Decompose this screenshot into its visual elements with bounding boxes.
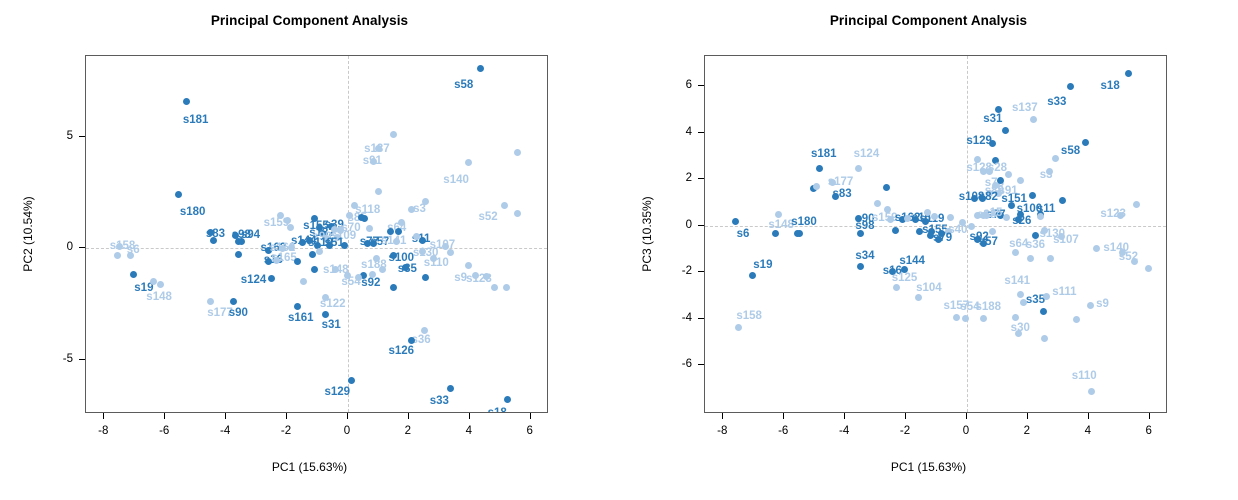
- x-axis-tick: [783, 413, 784, 419]
- x-axis-tick: [225, 413, 226, 419]
- point-label: s3: [1040, 169, 1053, 181]
- point-label: s148: [323, 264, 349, 276]
- panel-title: Principal Component Analysis: [0, 13, 619, 28]
- point-label: s58: [1061, 145, 1080, 157]
- point-label: s181: [183, 114, 209, 126]
- scatter-point: [1002, 127, 1009, 134]
- scatter-point: [1020, 299, 1027, 306]
- scatter-point: [1047, 255, 1054, 262]
- y-axis-tick-label: 0: [51, 241, 73, 253]
- y-axis-tick-label: 5: [51, 130, 73, 142]
- point-label: s148: [146, 291, 172, 303]
- point-label: s158: [736, 310, 762, 322]
- y-axis-tick: [698, 85, 704, 86]
- point-label: s18: [1101, 80, 1120, 92]
- point-label: s6: [127, 244, 140, 256]
- y-axis-title: PC2 (10.54%): [21, 196, 35, 271]
- scatter-point: [1067, 83, 1074, 90]
- point-label: s137: [1012, 102, 1038, 114]
- x-axis-tick: [1027, 413, 1028, 419]
- scatter-point: [287, 224, 294, 231]
- scatter-point: [207, 298, 214, 305]
- point-label: s19: [753, 259, 772, 271]
- point-label: s124: [241, 274, 267, 286]
- scatter-point: [1030, 116, 1037, 123]
- x-axis-tick: [1149, 413, 1150, 419]
- x-axis-tick: [347, 413, 348, 419]
- plot-points-left: s58s181s137s91s140s180s118s3s85s52s159s6…: [86, 56, 547, 412]
- point-label: s90: [229, 307, 248, 319]
- scatter-point: [1052, 155, 1059, 162]
- scatter-point: [1125, 70, 1132, 77]
- point-label: s91: [363, 155, 382, 167]
- x-axis-tick-label: 6: [527, 425, 533, 437]
- scatter-point: [989, 228, 996, 235]
- scatter-point: [1133, 201, 1140, 208]
- scatter-point: [997, 177, 1004, 184]
- x-axis-tick-label: -2: [900, 425, 910, 437]
- point-label: s9: [1096, 298, 1109, 310]
- y-axis-tick: [79, 136, 85, 137]
- panel-title: Principal Component Analysis: [619, 13, 1238, 28]
- scatter-point: [855, 165, 862, 172]
- scatter-point: [230, 298, 237, 305]
- scatter-point: [953, 314, 960, 321]
- y-axis-tick: [698, 271, 704, 272]
- y-axis-tick-label: 2: [670, 172, 692, 184]
- scatter-point: [232, 232, 239, 239]
- plot-points-right: s18s33s31s137s129s58s128s28s3s181s177s12…: [705, 56, 1166, 412]
- x-axis-tick: [722, 413, 723, 419]
- scatter-point: [447, 385, 454, 392]
- point-label: s107: [1053, 234, 1079, 246]
- scatter-point: [1043, 293, 1050, 300]
- scatter-point: [337, 226, 344, 233]
- y-axis-tick-label: 4: [670, 126, 692, 138]
- scatter-point: [874, 200, 881, 207]
- scatter-point: [390, 284, 397, 291]
- point-label: s148: [768, 219, 794, 231]
- scatter-point: [1041, 335, 1048, 342]
- point-label: s181: [811, 148, 837, 160]
- x-axis-tick-label: 0: [344, 425, 350, 437]
- y-axis-title: PC3 (10.35%): [640, 196, 654, 271]
- x-axis-tick-label: 2: [405, 425, 411, 437]
- point-label: s165: [271, 252, 297, 264]
- scatter-point: [1029, 192, 1036, 199]
- scatter-point: [893, 284, 900, 291]
- scatter-point: [501, 202, 508, 209]
- point-label: s159: [872, 212, 898, 224]
- pca-panel-pc1-pc2: Principal Component Analysis s58s181s137…: [0, 0, 619, 500]
- scatter-point: [974, 212, 981, 219]
- point-label: s159: [264, 217, 290, 229]
- scatter-point: [1005, 171, 1012, 178]
- scatter-point: [447, 249, 454, 256]
- scatter-point: [504, 396, 511, 403]
- scatter-point: [514, 210, 521, 217]
- x-axis-tick-label: -4: [839, 425, 849, 437]
- point-label: s94: [241, 229, 260, 241]
- scatter-point: [183, 98, 190, 105]
- y-axis-tick-label: -2: [670, 265, 692, 277]
- scatter-point: [796, 230, 803, 237]
- point-label: s124: [854, 148, 880, 160]
- x-axis-tick: [905, 413, 906, 419]
- x-axis-tick-label: -6: [778, 425, 788, 437]
- point-label: s9: [454, 272, 467, 284]
- scatter-point: [175, 191, 182, 198]
- scatter-point: [775, 211, 782, 218]
- scatter-point: [322, 311, 329, 318]
- scatter-point: [514, 149, 521, 156]
- scatter-point: [1017, 291, 1024, 298]
- point-label: s26: [1012, 215, 1031, 227]
- x-axis-tick: [844, 413, 845, 419]
- point-label: s144: [899, 255, 925, 267]
- scatter-point: [735, 324, 742, 331]
- scatter-point: [369, 271, 376, 278]
- point-label: s34: [855, 250, 874, 262]
- x-axis-tick: [408, 413, 409, 419]
- point-label: s180: [791, 216, 817, 228]
- x-axis-tick-label: 4: [1085, 425, 1091, 437]
- point-label: s52: [478, 211, 497, 223]
- scatter-point: [732, 218, 739, 225]
- point-label: s31: [983, 113, 1002, 125]
- y-axis-tick-label: 0: [670, 219, 692, 231]
- x-axis-tick-label: -6: [159, 425, 169, 437]
- y-axis-tick: [698, 178, 704, 179]
- y-axis-tick: [79, 247, 85, 248]
- scatter-point: [959, 219, 966, 226]
- scatter-point: [268, 275, 275, 282]
- point-label: s58: [454, 79, 473, 91]
- point-label: s125: [892, 272, 918, 284]
- point-label: s110: [424, 257, 449, 269]
- scatter-point: [294, 258, 301, 265]
- scatter-point: [915, 294, 922, 301]
- x-axis-tick-label: -2: [281, 425, 291, 437]
- y-axis-tick-label: -6: [670, 358, 692, 370]
- point-label: s52: [1119, 251, 1138, 263]
- y-axis-tick-label: -5: [51, 353, 73, 365]
- scatter-point: [358, 214, 365, 221]
- point-label: s36: [1026, 239, 1045, 251]
- plot-area-right: s18s33s31s137s129s58s128s28s3s181s177s12…: [704, 55, 1167, 413]
- point-label: s122: [320, 298, 346, 310]
- scatter-point: [114, 252, 121, 259]
- y-axis-tick-label: -4: [670, 312, 692, 324]
- scatter-point: [980, 315, 987, 322]
- point-label: s110: [1072, 370, 1097, 382]
- point-label: s35: [398, 263, 417, 275]
- pca-figure: Principal Component Analysis s58s181s137…: [0, 0, 1238, 500]
- scatter-point: [465, 159, 472, 166]
- point-label: s18: [488, 407, 507, 412]
- y-axis-tick: [79, 359, 85, 360]
- y-axis-tick: [698, 132, 704, 133]
- scatter-point: [816, 165, 823, 172]
- x-axis-title: PC1 (15.63%): [619, 460, 1238, 474]
- point-label: s137: [364, 143, 390, 155]
- point-label: s161: [288, 312, 314, 324]
- point-label: s33: [430, 395, 449, 407]
- scatter-point: [477, 65, 484, 72]
- scatter-point: [857, 263, 864, 270]
- point-label: s3: [413, 203, 426, 215]
- point-label: s141: [1004, 275, 1030, 287]
- x-axis-tick-label: 0: [963, 425, 969, 437]
- scatter-point: [421, 327, 428, 334]
- scatter-point: [503, 284, 510, 291]
- scatter-point: [157, 281, 164, 288]
- scatter-point: [288, 244, 295, 251]
- scatter-point: [422, 274, 429, 281]
- scatter-point: [1037, 213, 1044, 220]
- scatter-point: [927, 232, 934, 239]
- point-label: s141: [381, 235, 407, 247]
- point-label: s33: [1047, 96, 1066, 108]
- scatter-point: [1145, 265, 1152, 272]
- x-axis-tick: [286, 413, 287, 419]
- x-axis-tick-label: 2: [1024, 425, 1030, 437]
- scatter-point: [1087, 302, 1094, 309]
- point-label: s180: [180, 206, 206, 218]
- scatter-point: [749, 272, 756, 279]
- x-axis-tick: [1088, 413, 1089, 419]
- scatter-point: [465, 262, 472, 269]
- x-axis-title: PC1 (15.63%): [0, 460, 619, 474]
- scatter-point: [1088, 388, 1095, 395]
- x-axis-tick: [530, 413, 531, 419]
- point-label: s83: [832, 188, 851, 200]
- pca-panel-pc1-pc3: Principal Component Analysis s18s33s31s1…: [619, 0, 1238, 500]
- scatter-point: [348, 377, 355, 384]
- point-label: s6: [737, 228, 750, 240]
- point-label: s126: [388, 345, 414, 357]
- scatter-point: [1093, 245, 1100, 252]
- scatter-point: [1073, 316, 1080, 323]
- point-label: s140: [443, 174, 469, 186]
- point-label: s129: [966, 135, 992, 147]
- x-axis-tick: [966, 413, 967, 419]
- scatter-point: [772, 230, 779, 237]
- scatter-point: [1003, 214, 1010, 221]
- x-axis-tick-label: -8: [717, 425, 727, 437]
- point-label: s188: [975, 301, 1001, 313]
- y-axis-tick: [698, 318, 704, 319]
- scatter-point: [235, 251, 242, 258]
- x-axis-tick: [164, 413, 165, 419]
- scatter-point: [1012, 314, 1019, 321]
- x-axis-tick-label: -8: [98, 425, 108, 437]
- y-axis-tick: [698, 225, 704, 226]
- scatter-point: [311, 266, 318, 273]
- plot-area-left: s58s181s137s91s140s180s118s3s85s52s159s6…: [85, 55, 548, 413]
- scatter-point: [1059, 197, 1066, 204]
- point-label: s57: [979, 236, 998, 248]
- x-axis-tick: [469, 413, 470, 419]
- scatter-point: [130, 271, 137, 278]
- scatter-point: [341, 242, 348, 249]
- scatter-point: [316, 248, 323, 255]
- point-label: s104: [916, 282, 942, 294]
- scatter-point: [366, 225, 373, 232]
- scatter-point: [1082, 139, 1089, 146]
- scatter-point: [1032, 232, 1039, 239]
- scatter-point: [395, 228, 402, 235]
- x-axis-tick-label: 6: [1146, 425, 1152, 437]
- point-label: s129: [325, 386, 351, 398]
- scatter-point: [1015, 330, 1022, 337]
- scatter-point: [947, 214, 954, 221]
- scatter-point: [1027, 255, 1034, 262]
- scatter-point: [938, 230, 945, 237]
- scatter-point: [379, 266, 386, 273]
- y-axis-tick-label: 6: [670, 79, 692, 91]
- scatter-point: [892, 227, 899, 234]
- scatter-point: [1017, 177, 1024, 184]
- scatter-point: [390, 131, 397, 138]
- scatter-point: [883, 184, 890, 191]
- point-label: s177: [828, 176, 854, 188]
- x-axis-tick-label: -4: [220, 425, 230, 437]
- point-label: s123: [1100, 208, 1126, 220]
- point-label: s31: [322, 319, 341, 331]
- point-label: s92: [361, 277, 380, 289]
- scatter-point: [491, 284, 498, 291]
- scatter-point: [1040, 308, 1047, 315]
- y-axis-tick: [698, 364, 704, 365]
- scatter-point: [375, 188, 382, 195]
- point-label: s28: [988, 162, 1007, 174]
- scatter-point: [413, 233, 420, 240]
- point-label: s82: [979, 191, 998, 203]
- scatter-point: [294, 303, 301, 310]
- x-axis-tick: [103, 413, 104, 419]
- scatter-point: [813, 183, 820, 190]
- x-axis-tick-label: 4: [466, 425, 472, 437]
- point-label: s111: [1052, 286, 1076, 298]
- scatter-point: [300, 278, 307, 285]
- scatter-point: [968, 223, 975, 230]
